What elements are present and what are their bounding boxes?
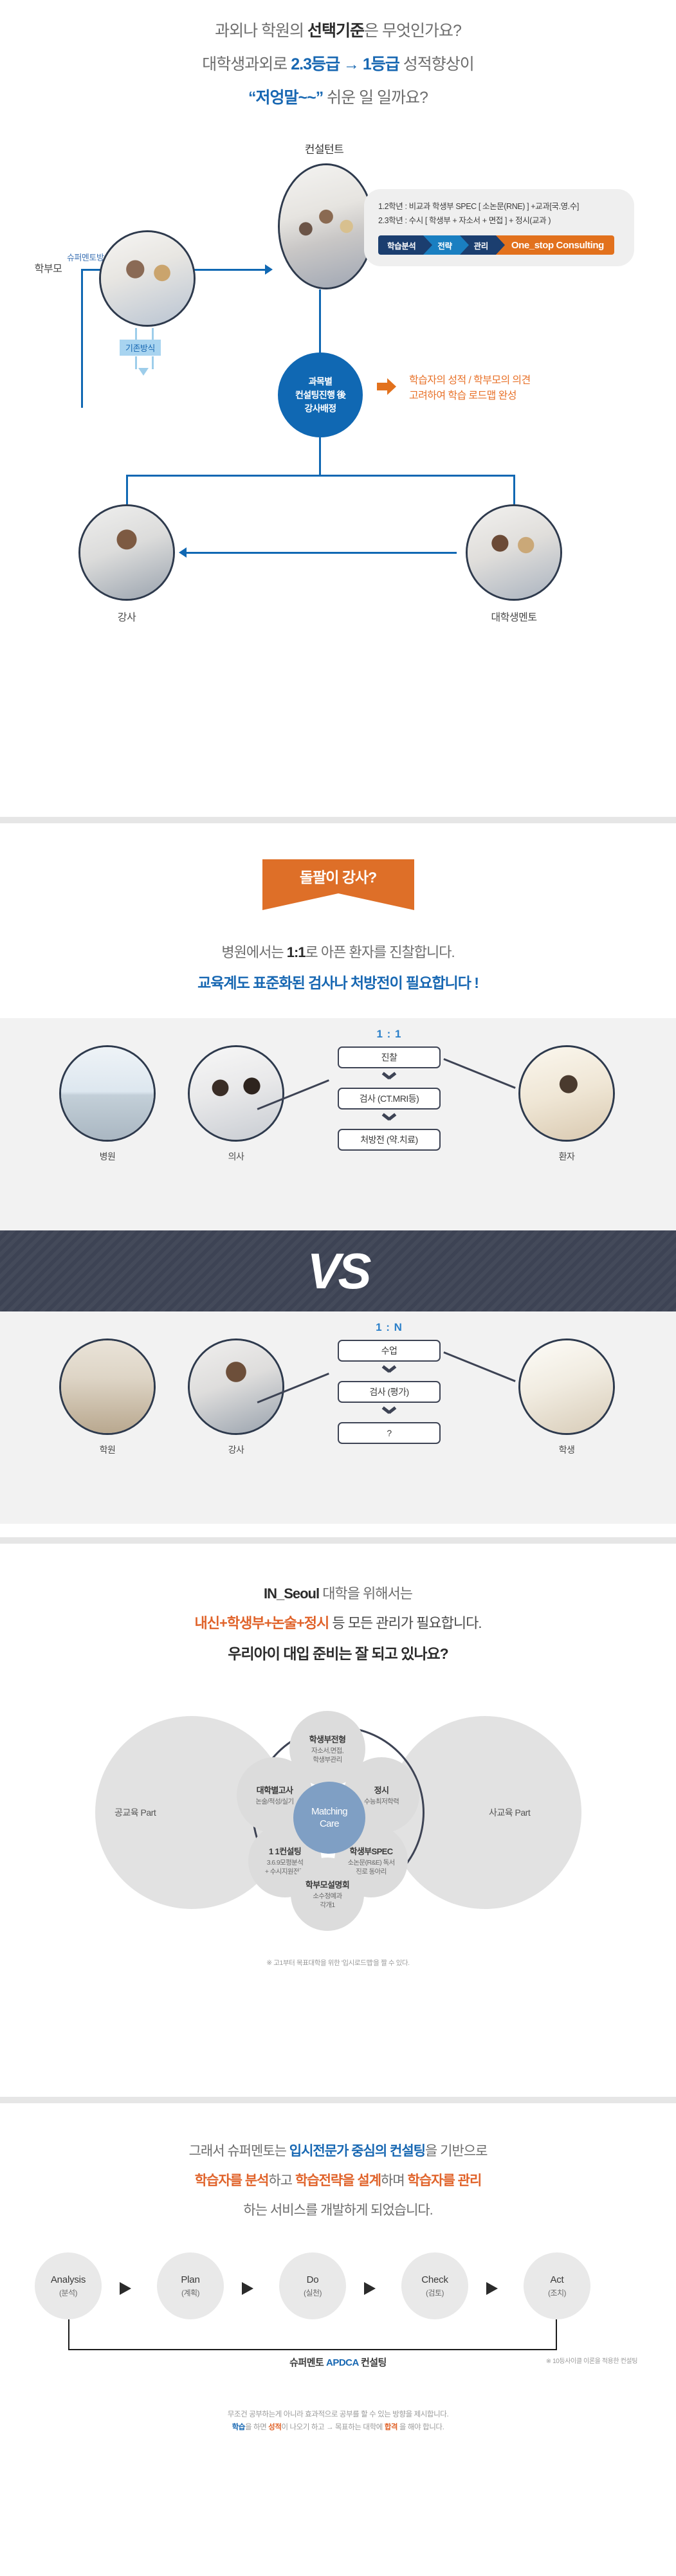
row-label-academy: 학원 — [59, 1443, 156, 1456]
academy-step-2: 검사 (평가) — [338, 1381, 441, 1403]
academy-flow-row: 학원 강사 1 : N 수업 검사 (평가) ? 학생 — [0, 1311, 676, 1524]
photo-doctor — [188, 1045, 284, 1142]
tag-arrow-down — [138, 368, 149, 376]
management-line: 내신+학생부+논술+정시 등 모든 관리가 필요합니다. — [0, 1612, 676, 1632]
row-label-lecturer: 강사 — [188, 1443, 284, 1456]
flow-line-teacher-mentor — [184, 552, 457, 554]
node-label-mentor: 대학생멘토 — [466, 608, 562, 624]
footer-mid-2: 이 나오기 하고 → 목표하는 대학에 — [282, 2424, 385, 2431]
section-quack-instructor: 돌팔이 강사? 병원에서는 1:1로 아픈 환자를 진찰합니다. 교육계도 표준… — [0, 817, 676, 1537]
service-mid-2: 하며 — [381, 2173, 407, 2188]
bubble-4-title: 학생부SPEC — [349, 1846, 392, 1857]
management-suffix: 등 모든 관리가 필요합니다. — [329, 1615, 481, 1631]
footer-keyword-grade: 성적 — [268, 2424, 281, 2431]
inseoul-suffix: 대학을 위해서는 — [319, 1585, 412, 1602]
headline-line-1: 과외나 학원의 선택기준은 무엇인가요? — [0, 14, 676, 48]
apdca-2-ko: (실천) — [304, 2287, 322, 2298]
roadmap-note-line-1: 학습자의 성적 / 학부모의 의견 — [409, 373, 531, 388]
connector-step-to-student — [444, 1351, 516, 1382]
chevron-down-icon-2 — [382, 1114, 396, 1123]
headline-3-suffix: 쉬운 일 일까요? — [323, 89, 428, 107]
label-private-education: 사교육 Part — [489, 1806, 530, 1819]
section-matching-care: IN_Seoul 대학을 위해서는 내신+학생부+논술+정시 등 모든 관리가 … — [0, 1537, 676, 2097]
flow-arrow-to-teacher — [179, 547, 187, 558]
footer-suffix: 을 해야 합니다. — [397, 2424, 444, 2431]
bubble-matching-care: Matching Care — [293, 1782, 365, 1854]
roadmap-note-line-2: 고려하여 학습 로드맵 완성 — [409, 388, 531, 404]
ribbon-quack-instructor: 돌팔이 강사? — [262, 859, 414, 910]
apdca-caption-keyword: APDCA — [326, 2357, 358, 2368]
service-keyword-management: 학습자를 관리 — [408, 2173, 482, 2188]
apdca-0-en: Analysis — [51, 2274, 86, 2285]
headline-3-quote: “저엉말~~” — [248, 89, 323, 107]
consulting-chevron-bar: 학습분석 전략 관리 One_stop Consulting — [378, 235, 623, 255]
photo-parent — [99, 230, 196, 327]
apdca-arrow-1 — [120, 2282, 131, 2295]
apdca-arrow-2 — [242, 2282, 253, 2295]
bubble-5-title: 학부모설명회 — [306, 1879, 349, 1890]
footer-keyword-pass: 합격 — [385, 2424, 397, 2431]
headline-line-3: “저엉말~~” 쉬운 일 일까요? — [0, 81, 676, 114]
service-keyword-strategy: 학습전략을 설계 — [295, 2173, 381, 2188]
hospital-flow-row: 병원 의사 1 : 1 진찰 검사 (CT.MRI등) 처방전 (약.치료) 환… — [0, 1018, 676, 1230]
section-selection-criteria: 과외나 학원의 선택기준은 무엇인가요? 대학생과외로 2.3등급 → 1등급 … — [0, 0, 676, 817]
bubble-5-sub: 소수정예과 각개1 — [313, 1892, 342, 1910]
footer-line-1: 무조건 공부하는게 아니라 효과적으로 공부를 할 수 있는 방향을 제시합니다… — [0, 2408, 676, 2421]
apdca-node-check: Check (검토) — [401, 2252, 468, 2319]
hospital-step-2: 검사 (CT.MRI등) — [338, 1088, 441, 1110]
bubble-0-sub: 자소서,면접, 학생부관리 — [311, 1746, 343, 1764]
section-divider-middle — [0, 1537, 676, 1544]
service-mid-1: 하고 — [268, 2173, 295, 2188]
supermento-line-3: 하는 서비스를 개발하게 되었습니다. — [0, 2200, 676, 2219]
footer-mid-1: 을 하면 — [245, 2424, 268, 2431]
consulting-flow-diagram: 컨설턴트 1.2학년 : 비교과 학생부 SPEC [ 소논문(RNE) ] +… — [0, 140, 676, 790]
section-apdca: 그래서 슈퍼멘토는 입시전문가 중심의 컨설팅을 기반으로 학습자를 분석하고 … — [0, 2097, 676, 2576]
supermento-line-2: 학습자를 분석하고 학습전략을 설계하며 학습자를 관리 — [0, 2170, 676, 2189]
hospital-step-3: 처방전 (약.치료) — [338, 1129, 441, 1151]
chevron-analysis: 학습분석 — [378, 235, 423, 255]
supermento-line-1: 그래서 슈퍼멘토는 입시전문가 중심의 컨설팅을 기반으로 — [0, 2141, 676, 2160]
apdca-feedback-loop — [68, 2319, 557, 2350]
matching-care-diagram: 공교육 Part 사교육 Part 학생부전형 자소서,면접, 학생부관리 대학… — [0, 1685, 676, 1955]
bubble-2-title: 정시 — [374, 1785, 389, 1796]
flow-line-bottom-horizontal — [126, 475, 515, 477]
apdca-node-act: Act (조치) — [524, 2252, 590, 2319]
photo-student — [518, 1338, 615, 1435]
apdca-node-do: Do (실천) — [279, 2252, 346, 2319]
section-divider-bottom — [0, 2097, 676, 2103]
flow-line-consultant-to-core — [319, 289, 321, 354]
chevron-down-icon-1 — [382, 1073, 396, 1082]
matching-care-line-1: Matching — [311, 1805, 347, 1818]
label-public-education: 공교육 Part — [114, 1806, 156, 1819]
flow-line-core-down — [319, 437, 321, 476]
hospital-ratio: 1 : 1 — [338, 1028, 441, 1041]
core-line-1: 과목별 — [309, 375, 333, 388]
hospital-step-1: 진찰 — [338, 1046, 441, 1068]
apdca-1-ko: (계획) — [181, 2287, 199, 2298]
footer-note: 무조건 공부하는게 아니라 효과적으로 공부를 할 수 있는 방향을 제시합니다… — [0, 2408, 676, 2434]
apdca-3-en: Check — [421, 2274, 448, 2285]
row-label-student: 학생 — [518, 1443, 615, 1456]
section-divider-top — [0, 817, 676, 823]
node-label-parent: 학부모 — [0, 260, 96, 275]
node-label-teacher: 강사 — [78, 608, 175, 624]
photo-consultant — [278, 163, 374, 289]
education-statement: 교육계도 표준화된 검사나 처방전이 필요합니다 ! — [0, 971, 676, 992]
bubble-2-sub: 수능최저학력 — [364, 1797, 399, 1806]
headline-2-grade: 2.3등급 → 1등급 — [291, 55, 399, 73]
chevron-one-stop-consulting: One_stop Consulting — [496, 235, 614, 255]
photo-mentor — [466, 504, 562, 601]
chevron-down-icon-3 — [382, 1366, 396, 1375]
vs-label: VS — [0, 1230, 676, 1311]
apdca-0-ko: (분석) — [59, 2287, 77, 2298]
bubble-1-title: 대학별고사 — [257, 1785, 293, 1796]
hospital-statement-suffix: 로 아픈 환자를 진찰합니다. — [306, 944, 455, 960]
bubble-parent-briefing: 학부모설명회 소수정예과 각개1 — [291, 1858, 364, 1931]
row-label-patient: 환자 — [518, 1150, 615, 1163]
flow-line-to-mentor — [513, 475, 515, 504]
photo-teacher — [78, 504, 175, 601]
apdca-cycle: Analysis (분석) Plan (계획) Do (실천) Check (검… — [0, 2252, 676, 2388]
apdca-1-en: Plan — [181, 2274, 199, 2285]
apdca-node-analysis: Analysis (분석) — [35, 2252, 102, 2319]
hospital-statement-prefix: 병원에서는 — [221, 944, 286, 960]
footer-line-2: 학습을 하면 성적이 나오기 하고 → 목표하는 대학에 합격 을 해야 합니다… — [0, 2421, 676, 2434]
inseoul-keyword: IN_Seoul — [264, 1585, 319, 1602]
academy-ratio: 1 : N — [338, 1321, 441, 1334]
footer-keyword-study: 학습 — [232, 2424, 245, 2431]
management-keywords: 내신+학생부+논술+정시 — [195, 1615, 329, 1631]
headline-1-bold: 선택기준 — [307, 22, 364, 40]
orange-arrow-icon — [377, 378, 397, 395]
row-label-doctor: 의사 — [188, 1150, 284, 1163]
chevron-down-icon-4 — [382, 1407, 396, 1416]
ribbon-tail-icon — [262, 893, 414, 910]
apdca-arrow-3 — [364, 2282, 376, 2295]
hospital-statement: 병원에서는 1:1로 아픈 환자를 진찰합니다. — [0, 941, 676, 962]
hospital-statement-ratio: 1:1 — [287, 944, 306, 960]
apdca-3-ko: (검토) — [426, 2287, 444, 2298]
bubble-3-title: 1 1컨설팅 — [269, 1846, 301, 1857]
photo-academy — [59, 1338, 156, 1435]
headline-line-2: 대학생과외로 2.3등급 → 1등급 성적향상이 — [0, 48, 676, 81]
node-label-consultant: 컨설턴트 — [260, 140, 388, 156]
academy-step-1: 수업 — [338, 1340, 441, 1362]
flow-arrow-to-consultant — [265, 264, 273, 275]
supermento-suffix: 을 기반으로 — [425, 2144, 487, 2159]
apdca-theory-note: ※ 10등사이클 이론을 적용한 컨설팅 — [546, 2355, 637, 2365]
service-keyword-analysis: 학습자를 분석 — [195, 2173, 269, 2188]
info-line-2: 2.3학년 : 수시 [ 학생부 + 자소서 + 면접 ] + 정시(교과 ) — [378, 214, 623, 228]
comparison-wrapper: 병원 의사 1 : 1 진찰 검사 (CT.MRI등) 처방전 (약.치료) 환… — [0, 1018, 676, 1524]
matching-care-line-2: Care — [320, 1818, 339, 1830]
supermento-keyword: 입시전문가 중심의 컨설팅 — [289, 2144, 425, 2159]
apdca-4-ko: (조치) — [548, 2287, 566, 2298]
core-circle-subject-consulting: 과목별 컨설팅진행 後 강사배정 — [278, 352, 363, 437]
tag-line-bottom-1 — [135, 356, 137, 369]
apdca-2-en: Do — [307, 2274, 319, 2285]
bubble-1-sub: 논술/적성/실기 — [256, 1797, 294, 1806]
apdca-caption-suffix: 컨설팅 — [358, 2357, 387, 2368]
connector-step-to-patient — [444, 1058, 516, 1088]
apdca-arrow-4 — [486, 2282, 498, 2295]
headline-2-prefix: 대학생과외로 — [202, 55, 291, 73]
inseoul-line: IN_Seoul 대학을 위해서는 — [0, 1582, 676, 1603]
roadmap-note: 학습자의 성적 / 학부모의 의견 고려하여 학습 로드맵 완성 — [409, 373, 531, 404]
matching-care-note: ※ 고1부터 목표대학을 위한 '입시로드맵'을 짤 수 있다. — [0, 1958, 676, 1968]
readiness-question: 우리아이 대입 준비는 잘 되고 있나요? — [0, 1641, 676, 1663]
apdca-node-plan: Plan (계획) — [157, 2252, 224, 2319]
tag-line-bottom-2 — [152, 356, 154, 369]
headline-1-prefix: 과외나 학원의 — [215, 22, 307, 40]
row-label-hospital: 병원 — [59, 1150, 156, 1163]
info-line-1: 1.2학년 : 비교과 학생부 SPEC [ 소논문(RNE) ] +교과[국.… — [378, 199, 623, 214]
core-line-2: 컨설팅진행 後 — [295, 388, 345, 402]
tag-line-top-1 — [135, 328, 137, 340]
photo-patient — [518, 1045, 615, 1142]
headline-1-suffix: 은 무엇인가요? — [364, 22, 461, 40]
supermento-prefix: 그래서 슈퍼멘토는 — [189, 2144, 289, 2159]
apdca-caption-prefix: 슈퍼멘토 — [289, 2357, 326, 2368]
consultant-info-card: 1.2학년 : 비교과 학생부 SPEC [ 소논문(RNE) ] +교과[국.… — [364, 189, 634, 266]
ribbon-label: 돌팔이 강사? — [262, 859, 414, 893]
tag-line-top-2 — [152, 328, 154, 340]
flow-line-to-teacher — [126, 475, 128, 504]
headline-2-suffix: 성적향상이 — [399, 55, 474, 73]
bubble-0-title: 학생부전형 — [309, 1734, 346, 1745]
apdca-4-en: Act — [550, 2274, 563, 2285]
photo-hospital — [59, 1045, 156, 1142]
tag-existing-method: 기존방식 — [120, 340, 161, 356]
academy-step-3: ? — [338, 1422, 441, 1444]
vs-band: VS — [0, 1230, 676, 1311]
photo-lecturer — [188, 1338, 284, 1435]
core-line-3: 강사배정 — [304, 402, 336, 416]
flow-line-left-vertical — [81, 269, 83, 408]
